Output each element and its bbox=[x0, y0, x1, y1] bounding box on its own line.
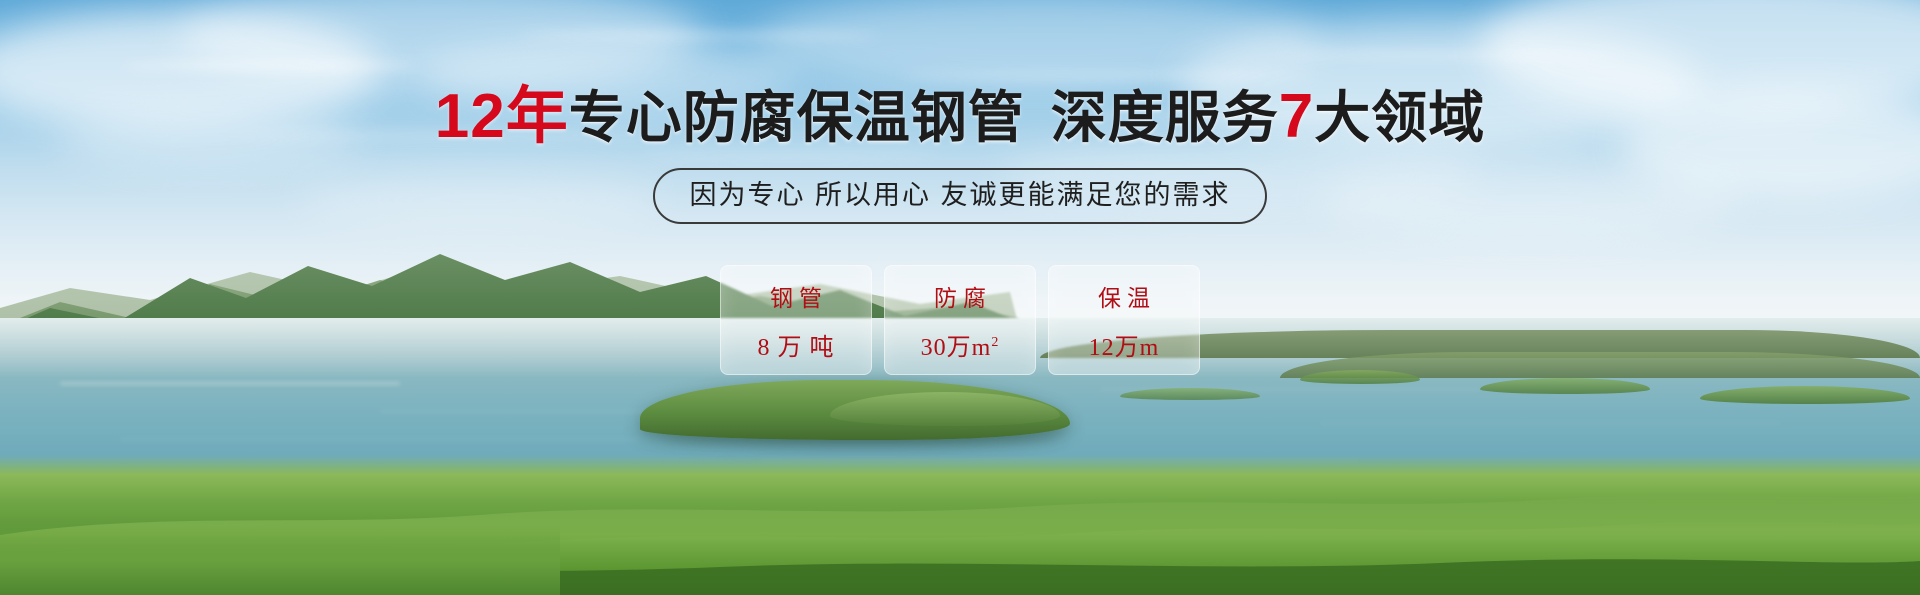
stat-card-value-text: 8 万 吨 bbox=[758, 335, 835, 361]
hero-banner: 12年专心防腐保温钢管深度服务7大领域 因为专心 所以用心 友诚更能满足您的需求… bbox=[0, 0, 1920, 595]
islet bbox=[1120, 388, 1260, 400]
headline-fields-text: 大领域 bbox=[1314, 86, 1485, 149]
cloud-wisp bbox=[520, 32, 880, 39]
banner-subtitle-container: 因为专心 所以用心 友诚更能满足您的需求 bbox=[0, 168, 1920, 224]
headline-fields-count-red: 7 bbox=[1279, 82, 1314, 151]
stat-card-value: 30万m2 bbox=[921, 327, 1000, 362]
foreground-grass-left bbox=[0, 525, 560, 595]
stat-card-anticorrosion[interactable]: 防腐 30万m2 bbox=[884, 265, 1036, 375]
cloud-wisp bbox=[120, 62, 420, 69]
cloud-wisp bbox=[900, 72, 1320, 79]
stat-cards-row: 钢管 8 万 吨 防腐 30万m2 保温 12万m bbox=[0, 265, 1920, 375]
stat-card-value: 8 万 吨 bbox=[758, 327, 835, 362]
stat-card-value: 12万m bbox=[1089, 327, 1160, 362]
stat-card-value-text: 12万m bbox=[1089, 335, 1160, 361]
stat-card-value-text: 30万m bbox=[921, 335, 992, 361]
stat-card-label: 钢管 bbox=[764, 279, 828, 313]
stat-card-steel-pipe[interactable]: 钢管 8 万 吨 bbox=[720, 265, 872, 375]
cloud-wisp bbox=[640, 152, 940, 159]
stat-card-label: 防腐 bbox=[928, 279, 992, 313]
stat-card-value-superscript: 2 bbox=[991, 335, 999, 350]
stat-card-insulation[interactable]: 保温 12万m bbox=[1048, 265, 1200, 375]
stat-card-label: 保温 bbox=[1092, 279, 1156, 313]
headline-years-red: 12年 bbox=[435, 82, 569, 151]
headline-service-text: 深度服务 bbox=[1051, 86, 1279, 149]
headline-main-text: 专心防腐保温钢管 bbox=[569, 86, 1025, 149]
banner-subtitle-pill: 因为专心 所以用心 友诚更能满足您的需求 bbox=[653, 168, 1266, 224]
banner-headline: 12年专心防腐保温钢管深度服务7大领域 bbox=[0, 86, 1920, 149]
water-ripple bbox=[60, 382, 400, 385]
islet bbox=[1700, 386, 1910, 404]
islet bbox=[1480, 378, 1650, 394]
cloud-wisp bbox=[1280, 52, 1620, 59]
